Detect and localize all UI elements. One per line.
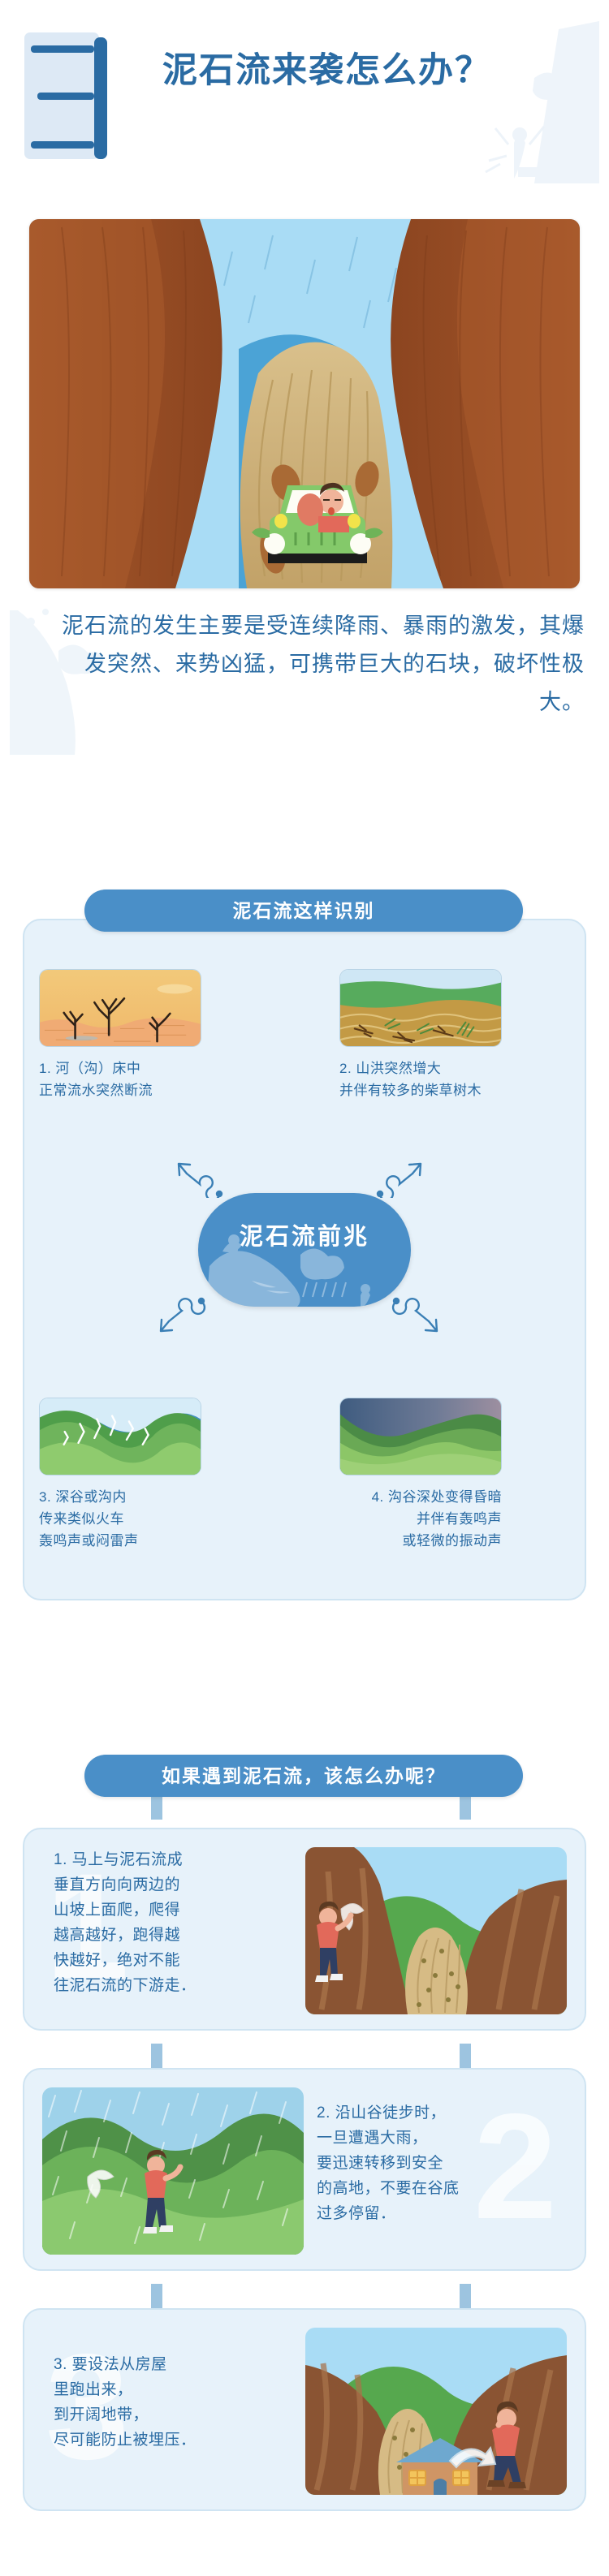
advice-item-3: 3 3. 要设法从房屋 里跑出来， 到开阔地带， 尽可能防止被埋压． — [23, 2308, 586, 2511]
advice-illustration-1 — [305, 1847, 567, 2014]
core-badge-label: 泥石流前兆 — [198, 1217, 411, 1251]
connector-bar — [151, 2044, 162, 2068]
advice-text-1: 1. 马上与泥石流成 垂直方向向两边的 山坡上面爬，爬得 越高越好，跑得越 快越… — [54, 1847, 297, 1998]
connector-bar — [151, 2284, 162, 2308]
arrow-decoration-top-left-icon — [174, 1159, 224, 1198]
intro-paragraph: 泥石流的发生主要是受连续降雨、暴雨的激发，其爆发突然、来势凶猛，可携带巨大的石块… — [49, 607, 585, 722]
identify-card-1-caption: 1. 河（沟）床中 正常流水突然断流 — [39, 1058, 201, 1101]
connector-bar — [460, 2284, 471, 2308]
intro-block: 泥石流的发生主要是受连续降雨、暴雨的激发，其爆发突然、来势凶猛，可携带巨大的石块… — [0, 602, 609, 748]
identify-card-3-caption: 3. 深谷或沟内 传来类似火车 轰鸣声或闷雷声 — [39, 1486, 201, 1552]
page-title: 泥石流来袭怎么办？ — [162, 42, 491, 93]
advice-item-2: 2 2. 沿山谷徒步时， 一旦遭遇大雨， 要迅速转移到安全 的高地，不要在谷底 … — [23, 2068, 586, 2271]
core-badge: 泥石流前兆 — [198, 1193, 411, 1307]
connector-bar — [460, 1795, 471, 1820]
arrow-decoration-top-right-icon — [375, 1159, 425, 1198]
page-header: 泥石流来袭怎么办？ — [0, 0, 609, 203]
advice-illustration-3 — [305, 2328, 567, 2495]
muddy-flood-thumbnail — [339, 969, 502, 1047]
connector-bar — [151, 1795, 162, 1820]
identify-card-1: 1. 河（沟）床中 正常流水突然断流 — [39, 969, 201, 1101]
advice-text-3: 3. 要设法从房屋 里跑出来， 到开阔地带， 尽可能防止被埋压． — [54, 2352, 313, 2453]
dry-riverbed-thumbnail — [39, 969, 201, 1047]
advice-item-1: 1 1. 马上与泥石流成 垂直方向向两边的 山坡上面爬，爬得 越高越好，跑得越 … — [23, 1828, 586, 2031]
advice-text-2: 2. 沿山谷徒步时， 一旦遭遇大雨， 要迅速转移到安全 的高地，不要在谷底 过多… — [317, 2100, 560, 2226]
identify-card-4-caption: 4. 沟谷深处变得昏暗 并伴有轰鸣声 或轻微的振动声 — [339, 1486, 502, 1552]
identify-card-3: 3. 深谷或沟内 传来类似火车 轰鸣声或闷雷声 — [39, 1398, 201, 1552]
advice-illustration-2 — [42, 2087, 304, 2255]
section-number-badge — [23, 31, 112, 161]
advice-banner: 如果遇到泥石流，该怎么办呢？ — [84, 1755, 523, 1797]
identify-banner: 泥石流这样识别 — [84, 890, 523, 932]
hero-illustration — [29, 219, 580, 588]
darkened-valley-thumbnail — [339, 1398, 502, 1475]
identify-card-4: 4. 沟谷深处变得昏暗 并伴有轰鸣声 或轻微的振动声 — [339, 1398, 502, 1552]
valley-sound-thumbnail — [39, 1398, 201, 1475]
identify-card-2-caption: 2. 山洪突然增大 并伴有较多的柴草树木 — [339, 1058, 502, 1101]
connector-bar — [460, 2044, 471, 2068]
identify-card-2: 2. 山洪突然增大 并伴有较多的柴草树木 — [339, 969, 502, 1101]
